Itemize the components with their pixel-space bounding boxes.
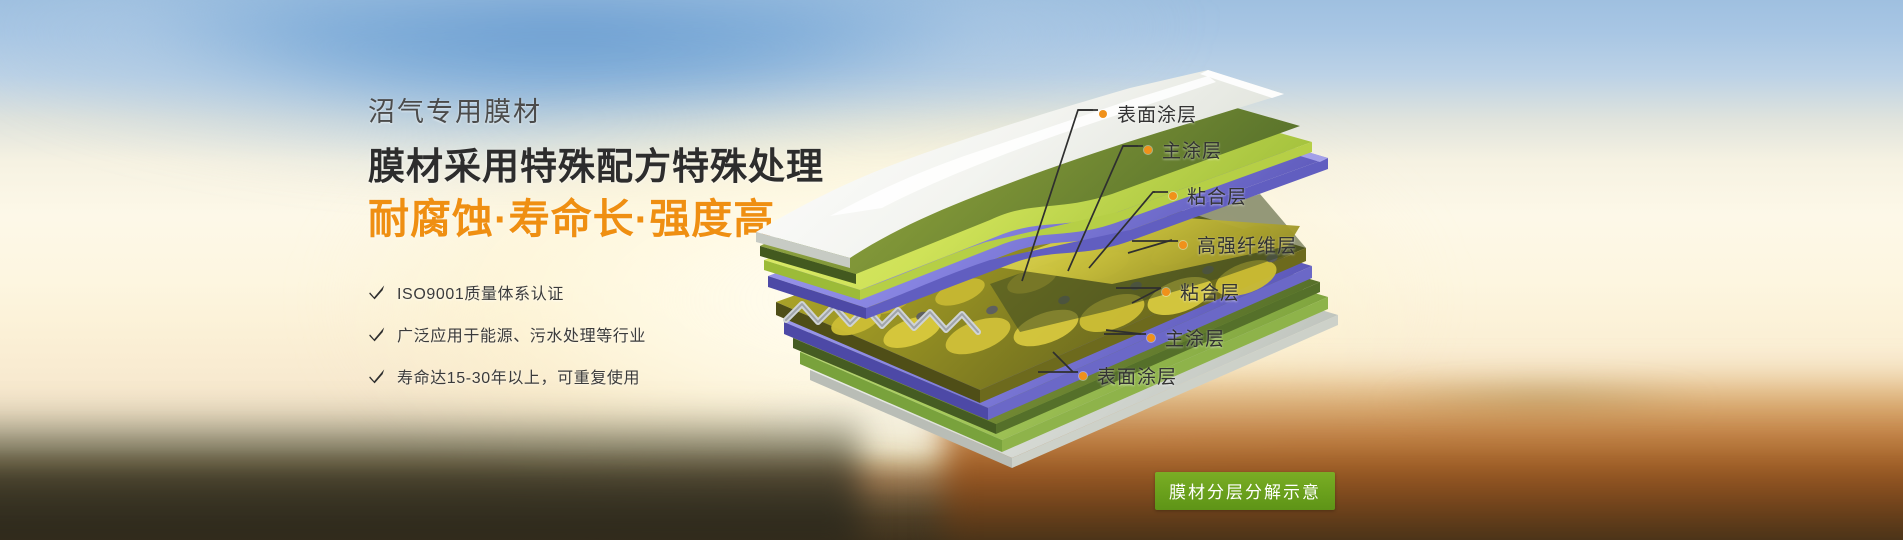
callout-adhesive-bottom: 粘合层 — [1162, 278, 1240, 305]
bullet-dot-icon — [1079, 372, 1087, 380]
bullet-dot-icon — [1169, 192, 1177, 200]
callout-fiber-layer: 高强纤维层 — [1179, 231, 1297, 258]
bullet-dot-icon — [1162, 288, 1170, 296]
callout-adhesive-top: 粘合层 — [1169, 182, 1247, 209]
callout-label: 粘合层 — [1180, 278, 1240, 305]
bullet-dot-icon — [1144, 146, 1152, 154]
bullet-dot-icon — [1179, 241, 1187, 249]
callout-label: 主涂层 — [1162, 136, 1222, 163]
callout-label: 主涂层 — [1165, 324, 1225, 351]
callout-label: 表面涂层 — [1117, 100, 1197, 127]
callout-main-coating-top: 主涂层 — [1144, 136, 1222, 163]
bullet-dot-icon — [1099, 110, 1107, 118]
callout-main-coating-bottom: 主涂层 — [1147, 324, 1225, 351]
biogas-membrane-banner: 沼气专用膜材 膜材采用特殊配方特殊处理 耐腐蚀·寿命长·强度高 ISO9001质… — [0, 0, 1903, 540]
callout-surface-coating-top: 表面涂层 — [1099, 100, 1197, 127]
callout-label: 高强纤维层 — [1197, 231, 1297, 258]
bullet-dot-icon — [1147, 334, 1155, 342]
callout-surface-coating-bottom: 表面涂层 — [1079, 362, 1177, 389]
status-badge: 膜材分层分解示意 — [1155, 472, 1335, 510]
callout-label: 粘合层 — [1187, 182, 1247, 209]
callout-label-group: 表面涂层 主涂层 粘合层 高强纤维层 粘合层 主涂层 表面涂层 — [0, 0, 1903, 540]
callout-label: 表面涂层 — [1097, 362, 1177, 389]
